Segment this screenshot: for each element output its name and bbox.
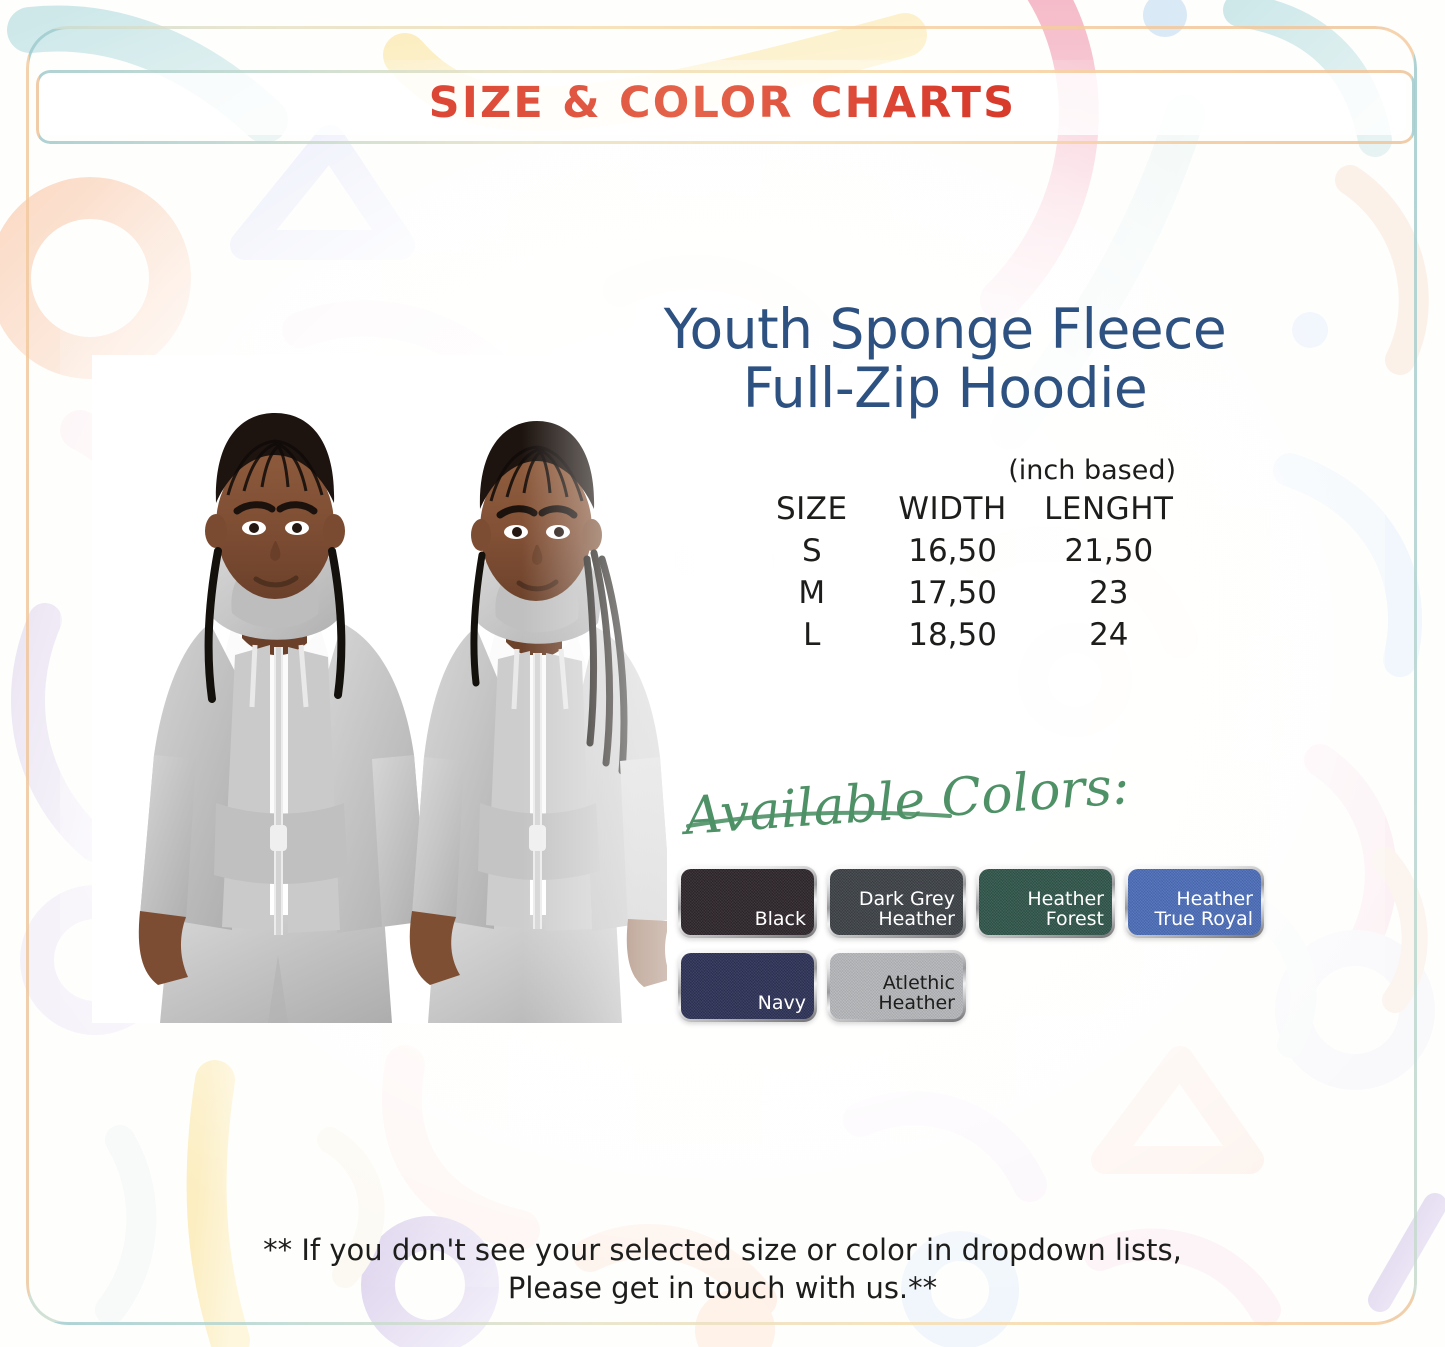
swatch-fill: Black <box>681 869 814 935</box>
product-title-line-2: Full-Zip Hoodie <box>600 359 1290 418</box>
swatch-fill: Heather Forest <box>979 869 1112 935</box>
color-swatch-grid: Black Dark Grey Heather Heather Forest H… <box>678 866 1278 1034</box>
column-header-length: LENGHT <box>1030 488 1188 530</box>
table-row: L 18,50 24 <box>748 614 1188 656</box>
product-photo <box>92 355 667 1023</box>
cell-size: L <box>748 614 876 656</box>
column-header-width: WIDTH <box>876 488 1030 530</box>
color-swatch-heather-true-royal[interactable]: Heather True Royal <box>1125 866 1264 938</box>
swatch-label: Heather True Royal <box>1154 890 1253 930</box>
size-chart: (inch based) SIZE WIDTH LENGHT S 16,50 2… <box>748 455 1188 656</box>
swatch-label: Dark Grey Heather <box>859 890 955 930</box>
cell-size: S <box>748 530 876 572</box>
color-swatch-dark-grey-heather[interactable]: Dark Grey Heather <box>827 866 966 938</box>
color-swatch-atlethic-heather[interactable]: Atlethic Heather <box>827 950 966 1022</box>
table-row: S 16,50 21,50 <box>748 530 1188 572</box>
footer-note: ** If you don't see your selected size o… <box>0 1232 1445 1307</box>
table-row: M 17,50 23 <box>748 572 1188 614</box>
swatch-fill: Navy <box>681 953 814 1019</box>
swatch-fill: Heather True Royal <box>1128 869 1261 935</box>
swatch-label: Navy <box>758 994 806 1014</box>
page-title: SIZE & COLOR CHARTS <box>0 78 1445 128</box>
swatch-fill: Dark Grey Heather <box>830 869 963 935</box>
swatch-label: Black <box>755 910 806 930</box>
color-swatch-row-2: Navy Atlethic Heather <box>678 950 1278 1022</box>
swatch-label: Atlethic Heather <box>878 974 955 1014</box>
color-swatch-navy[interactable]: Navy <box>678 950 817 1022</box>
cell-length: 21,50 <box>1030 530 1188 572</box>
swatch-fill: Atlethic Heather <box>830 953 963 1019</box>
cell-width: 18,50 <box>876 614 1030 656</box>
column-header-size: SIZE <box>748 488 876 530</box>
size-chart-table: SIZE WIDTH LENGHT S 16,50 21,50 M 17,50 … <box>748 488 1188 656</box>
cell-length: 24 <box>1030 614 1188 656</box>
cell-size: M <box>748 572 876 614</box>
product-title-line-1: Youth Sponge Fleece <box>600 300 1290 359</box>
swatch-label: Heather Forest <box>1027 890 1104 930</box>
footer-line-1: ** If you don't see your selected size o… <box>0 1232 1445 1270</box>
product-title: Youth Sponge Fleece Full-Zip Hoodie <box>600 300 1290 419</box>
color-swatch-black[interactable]: Black <box>678 866 817 938</box>
available-colors-heading: Available Colors: <box>680 782 1100 852</box>
unit-note: (inch based) <box>748 455 1188 486</box>
cell-length: 23 <box>1030 572 1188 614</box>
color-swatch-row-1: Black Dark Grey Heather Heather Forest H… <box>678 866 1278 938</box>
cell-width: 16,50 <box>876 530 1030 572</box>
color-swatch-heather-forest[interactable]: Heather Forest <box>976 866 1115 938</box>
size-chart-header-row: SIZE WIDTH LENGHT <box>748 488 1188 530</box>
cell-width: 17,50 <box>876 572 1030 614</box>
size-color-chart-page: SIZE & COLOR CHARTS <box>0 0 1445 1347</box>
footer-line-2: Please get in touch with us.** <box>0 1270 1445 1308</box>
